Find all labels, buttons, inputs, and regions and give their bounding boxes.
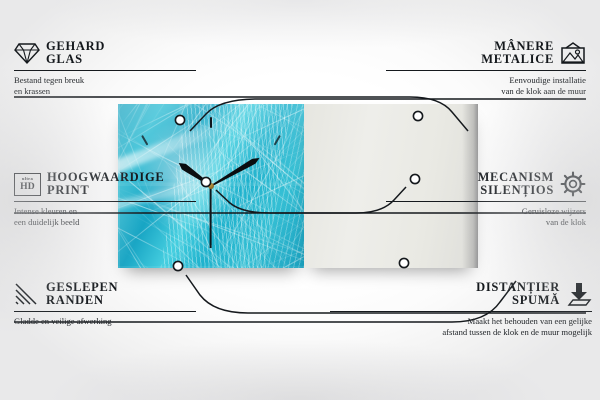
callout-title: HOOGWAARDIGE PRINT	[47, 171, 164, 198]
callout-header: MÂNERE METALICE	[346, 40, 586, 67]
diamond-icon	[14, 41, 40, 65]
callout-title: GESLEPEN RANDEN	[46, 281, 118, 308]
callout-header: GEHARD GLAS	[14, 40, 244, 67]
callout-title: DISTANȚIER SPUMĂ	[476, 281, 560, 308]
callout-title: MECANISM SILENȚIOS	[478, 171, 554, 198]
beveled-edge-icon	[14, 282, 40, 306]
callout-rule	[14, 201, 196, 203]
spacer-arrow-icon	[566, 281, 592, 307]
callout-mecanism-silentios[interactable]: MECANISM SILENȚIOS Geruisloze wijzers va…	[346, 171, 586, 228]
callout-title: GEHARD GLAS	[46, 40, 105, 67]
callout-title: MÂNERE METALICE	[481, 40, 554, 67]
infographic-canvas: GEHARD GLAS Bestand tegen breuk en krass…	[0, 0, 600, 400]
callout-distantier-spuma[interactable]: DISTANȚIER SPUMĂ Maakt het behouden van …	[292, 281, 592, 338]
gear-icon	[560, 171, 586, 197]
callout-rule	[386, 70, 586, 72]
callout-rule	[386, 201, 586, 203]
callout-rule	[14, 311, 196, 313]
callout-geslepen-randen[interactable]: GESLEPEN RANDEN Gladde en veilige afwerk…	[14, 281, 244, 327]
callout-manere-metalice[interactable]: MÂNERE METALICE Eenvoudige installatie v…	[346, 40, 586, 97]
clock-tick	[210, 117, 212, 128]
callout-gehard-glas[interactable]: GEHARD GLAS Bestand tegen breuk en krass…	[14, 40, 244, 97]
ultra-hd-icon: ultra HD	[14, 173, 41, 196]
callout-hoogwaardige-print[interactable]: ultra HD HOOGWAARDIGE PRINT Intense kleu…	[14, 171, 244, 228]
callout-header: GESLEPEN RANDEN	[14, 281, 244, 308]
picture-frame-icon	[560, 42, 586, 65]
callout-rule	[14, 70, 196, 72]
callout-header: DISTANȚIER SPUMĂ	[292, 281, 592, 308]
callout-rule	[330, 311, 592, 313]
callout-header: MECANISM SILENȚIOS	[346, 171, 586, 198]
callout-header: ultra HD HOOGWAARDIGE PRINT	[14, 171, 244, 198]
